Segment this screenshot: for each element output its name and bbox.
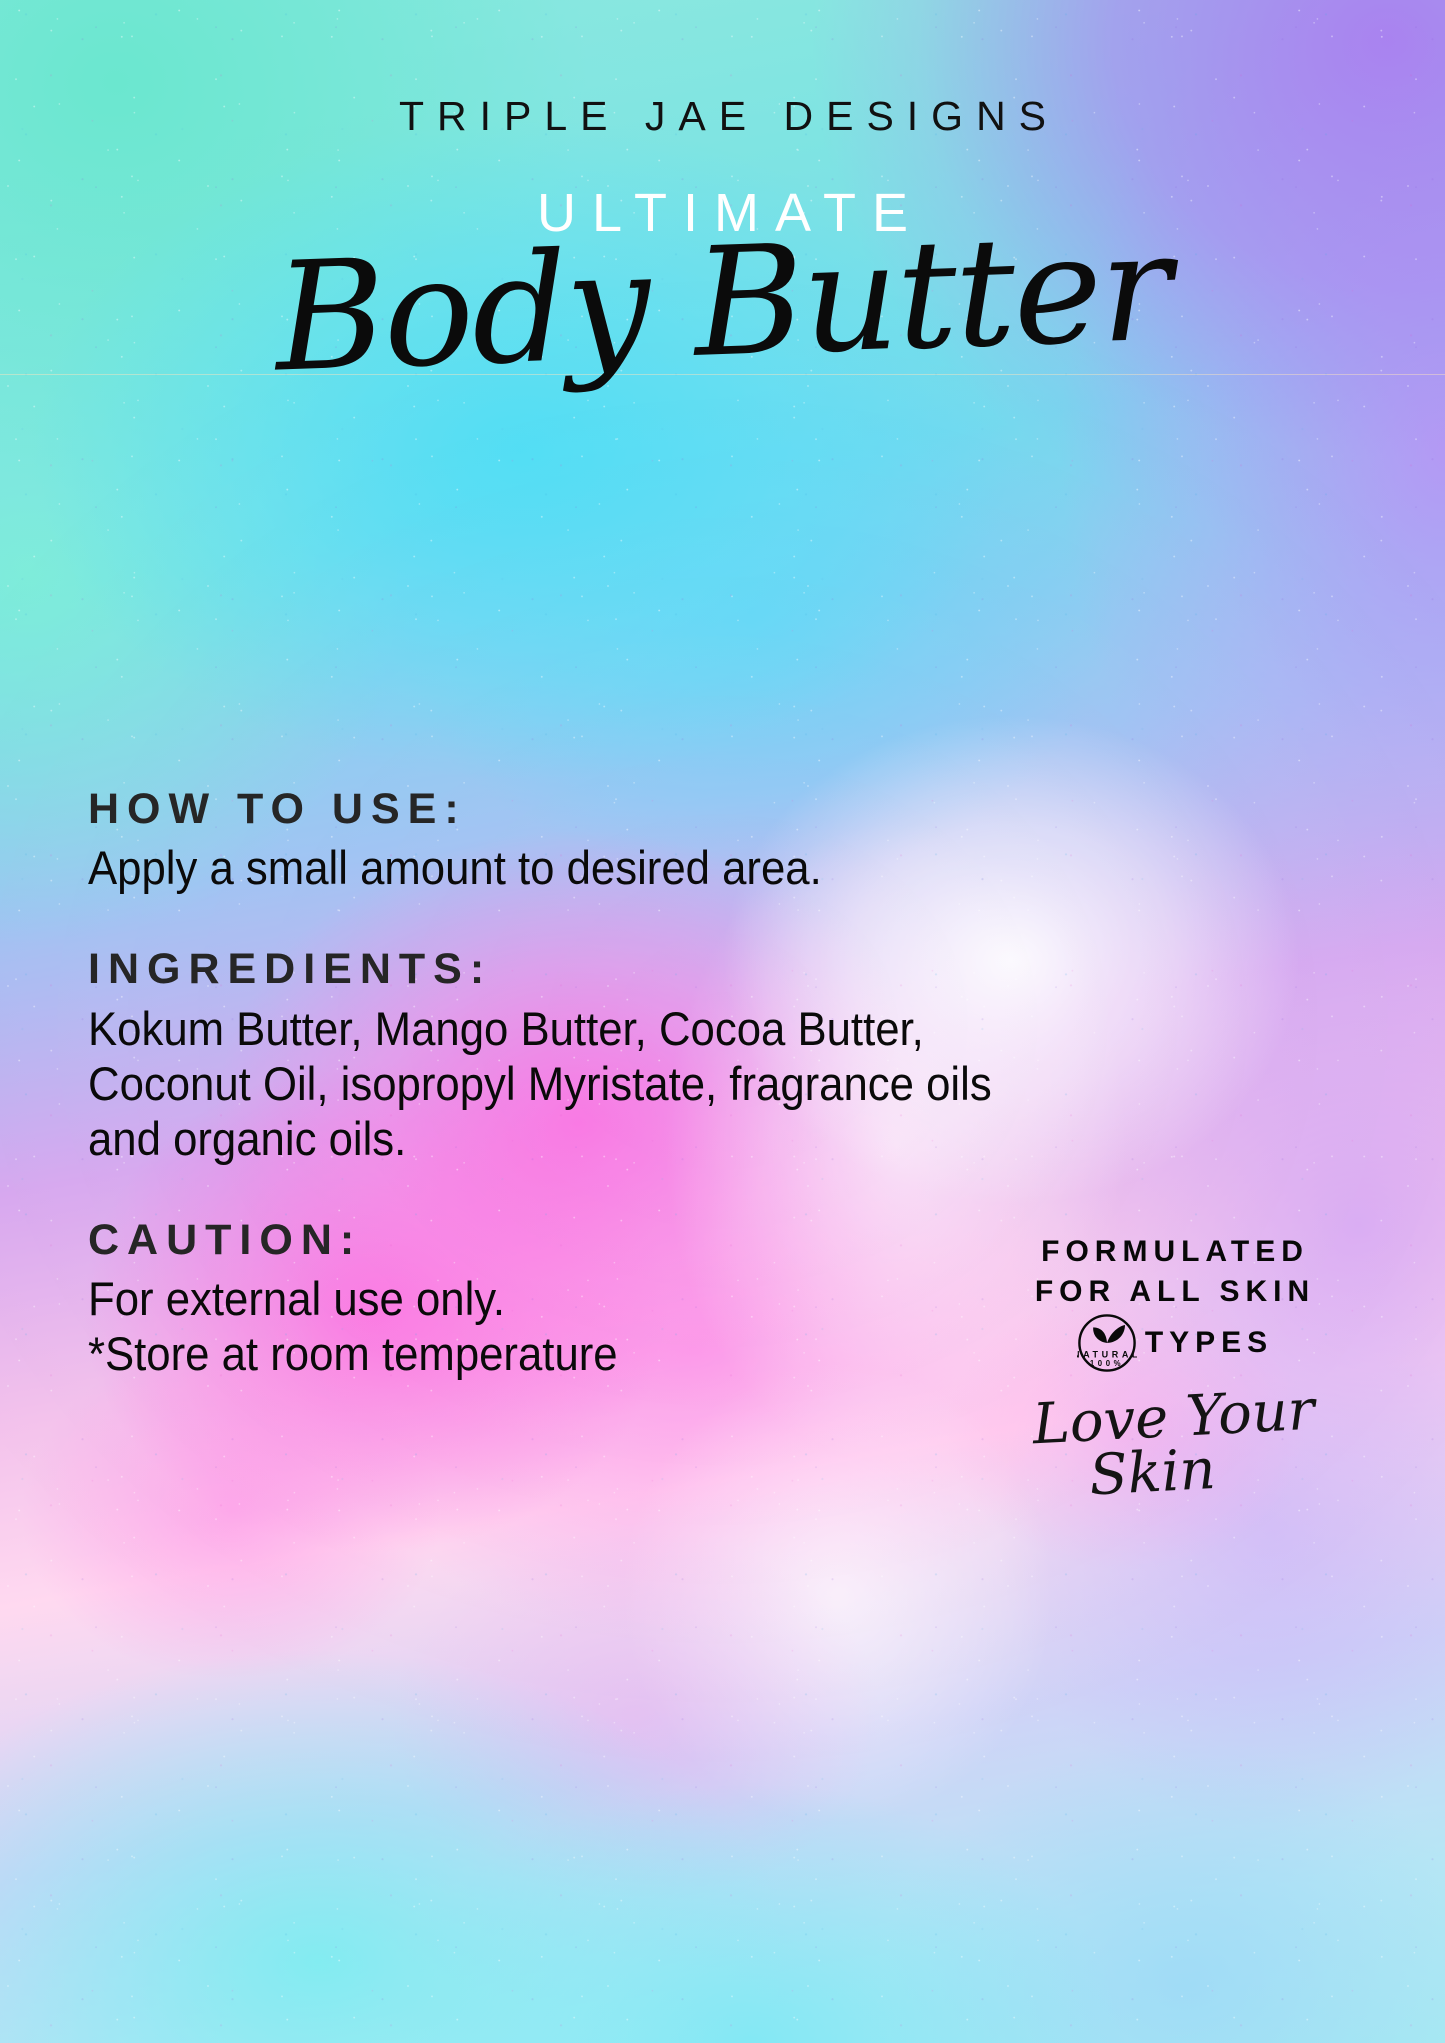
label-info-sections: HOW TO USE: Apply a small amount to desi… [88,786,1088,1382]
seal-line-types-row: NATURAL 100% TYPES [975,1313,1375,1373]
seal-line-for-all-skin: FOR ALL SKIN [975,1272,1375,1312]
section-body-caution: For external use only. *Store at room te… [88,1272,1018,1382]
section-heading-caution: CAUTION: [88,1217,1088,1264]
section-ingredients: INGREDIENTS: Kokum Butter, Mango Butter,… [88,946,1088,1166]
label-content: TRIPLE JAE DESIGNS ULTIMATE Body Butter … [0,0,1445,2043]
section-body-ingredients: Kokum Butter, Mango Butter, Cocoa Butter… [88,1002,1018,1167]
formulated-seal-block: FORMULATED FOR ALL SKIN NATURAL 100% TYP… [975,1232,1375,1499]
natural-leaf-badge-icon: NATURAL 100% [1077,1313,1137,1373]
section-heading-how-to-use: HOW TO USE: [88,786,1088,833]
section-how-to-use: HOW TO USE: Apply a small amount to desi… [88,786,1088,896]
brand-name: TRIPLE JAE DESIGNS [13,96,1445,137]
tagline-line-2: Skin [927,1434,1377,1511]
seal-line-types: TYPES [1145,1323,1273,1363]
product-label-card: TRIPLE JAE DESIGNS ULTIMATE Body Butter … [0,0,1445,2043]
svg-text:100%: 100% [1090,1359,1124,1368]
section-heading-ingredients: INGREDIENTS: [88,946,1088,993]
label-header: TRIPLE JAE DESIGNS ULTIMATE Body Butter [0,96,1445,378]
section-caution: CAUTION: For external use only. *Store a… [88,1217,1088,1382]
svg-text:NATURAL: NATURAL [1077,1350,1137,1360]
tagline-love-your-skin: Love Your Skin [972,1381,1377,1509]
section-body-how-to-use: Apply a small amount to desired area. [88,841,1018,896]
seal-line-formulated: FORMULATED [975,1232,1375,1272]
